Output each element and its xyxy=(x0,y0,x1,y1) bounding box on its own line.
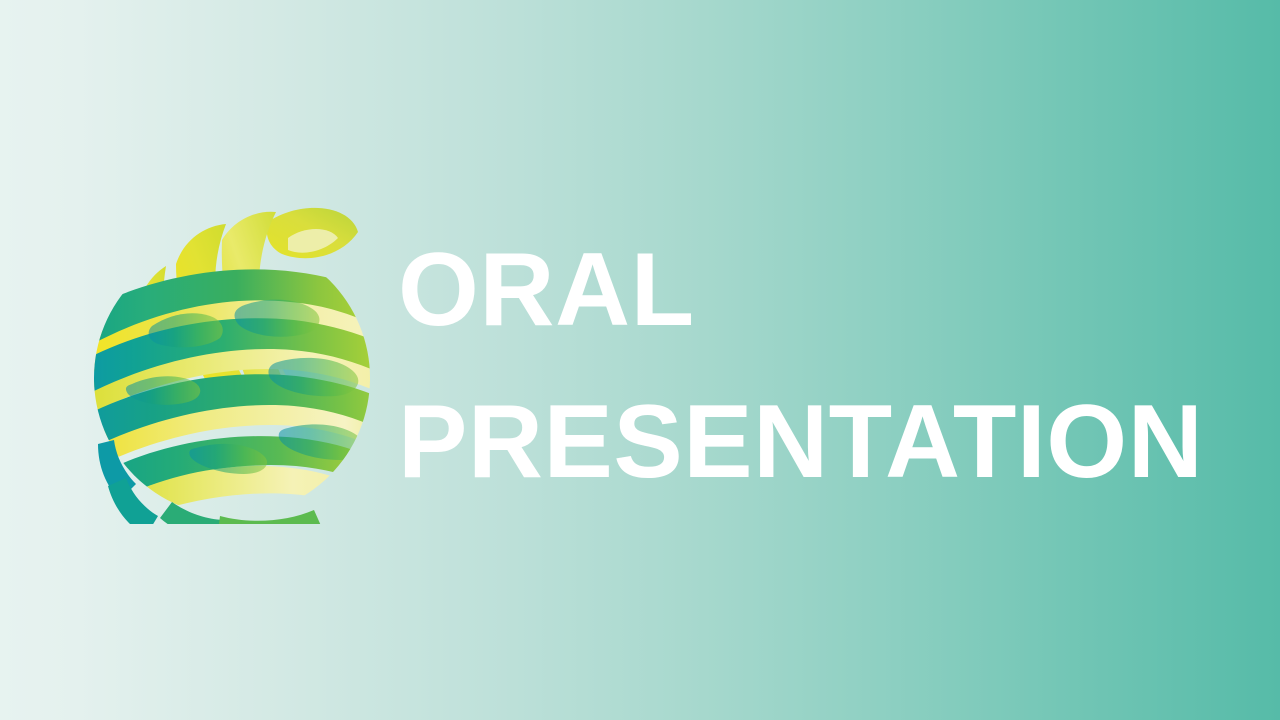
globe-sphere xyxy=(92,269,378,524)
spiral-ribbon-globe-logo xyxy=(92,198,378,524)
globe-logo-svg xyxy=(92,198,378,524)
page-title-line-2: PRESENTATION xyxy=(398,390,1218,494)
globe-tail-3 xyxy=(160,502,228,524)
page-title-line-1: ORAL xyxy=(398,238,1218,342)
slide-canvas: ORAL PRESENTATION xyxy=(0,0,1280,720)
globe-tail-4 xyxy=(218,510,322,524)
title-block: ORAL PRESENTATION xyxy=(398,238,1218,494)
